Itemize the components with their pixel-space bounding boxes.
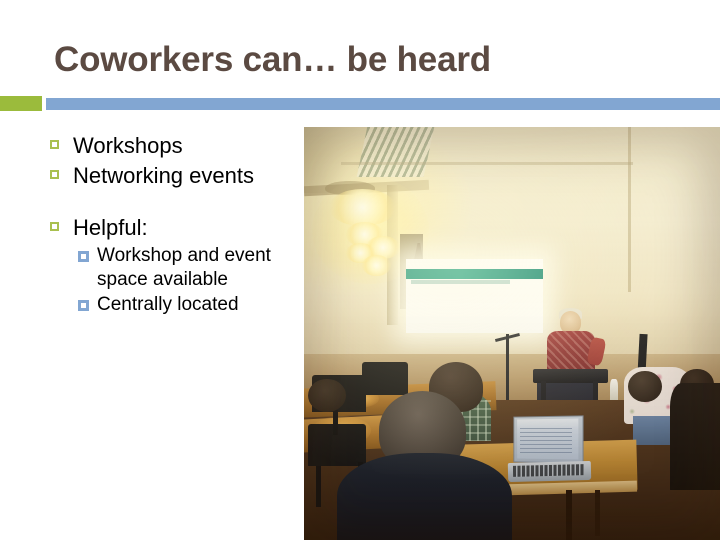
slide-photo xyxy=(304,127,720,540)
list-item-label: Networking events xyxy=(73,162,254,190)
list-item: Helpful: xyxy=(50,214,300,242)
photo-screen-header-band xyxy=(406,269,543,279)
photo-audience-head xyxy=(628,371,661,402)
green-square-bullet-icon xyxy=(50,140,59,149)
photo-projection-screen xyxy=(406,259,543,333)
list-item-label: Workshop and event space available xyxy=(97,244,300,292)
photo-wall-seam xyxy=(628,127,631,292)
accent-bar-green xyxy=(0,96,42,111)
photo-lamp-light xyxy=(362,255,391,276)
photo-water-bottle xyxy=(610,379,618,402)
list-item-label: Helpful: xyxy=(73,214,148,242)
photo-lamp-light xyxy=(329,189,396,226)
photo-table-leg xyxy=(566,490,572,540)
list-spacer xyxy=(50,192,300,214)
page-title: Coworkers can… be heard xyxy=(54,38,674,82)
photo-screen-subband xyxy=(411,280,510,284)
photo-folding-chair xyxy=(362,362,408,395)
accent-bar-blue xyxy=(46,98,720,110)
list-item-label: Centrally located xyxy=(97,293,239,317)
photo-chair-leg xyxy=(316,466,321,507)
green-square-bullet-icon xyxy=(50,222,59,231)
blue-square-bullet-icon xyxy=(78,300,89,311)
green-square-bullet-icon xyxy=(50,170,59,179)
photo-ceiling-duct xyxy=(357,127,434,177)
list-item-label: Workshops xyxy=(73,132,183,160)
list-item: Workshops xyxy=(50,132,300,160)
photo-audience-head xyxy=(308,379,345,412)
blue-square-bullet-icon xyxy=(78,251,89,262)
photo-laptop-keyboard xyxy=(513,464,584,476)
list-item: Networking events xyxy=(50,162,300,190)
photo-laptop-screen-content xyxy=(520,428,572,453)
bullet-list: Workshops Networking events Helpful: Wor… xyxy=(50,132,300,318)
photo-chair-leg xyxy=(333,410,338,435)
photo-mic-stand xyxy=(506,334,509,408)
photo-foreground-person-torso xyxy=(337,453,512,540)
photo-wall-seam-horizontal xyxy=(341,162,632,164)
list-item: Centrally located xyxy=(78,293,300,317)
photo-table-leg xyxy=(595,490,600,535)
photo-audience-silhouette xyxy=(670,383,720,490)
list-item: Workshop and event space available xyxy=(78,244,300,292)
